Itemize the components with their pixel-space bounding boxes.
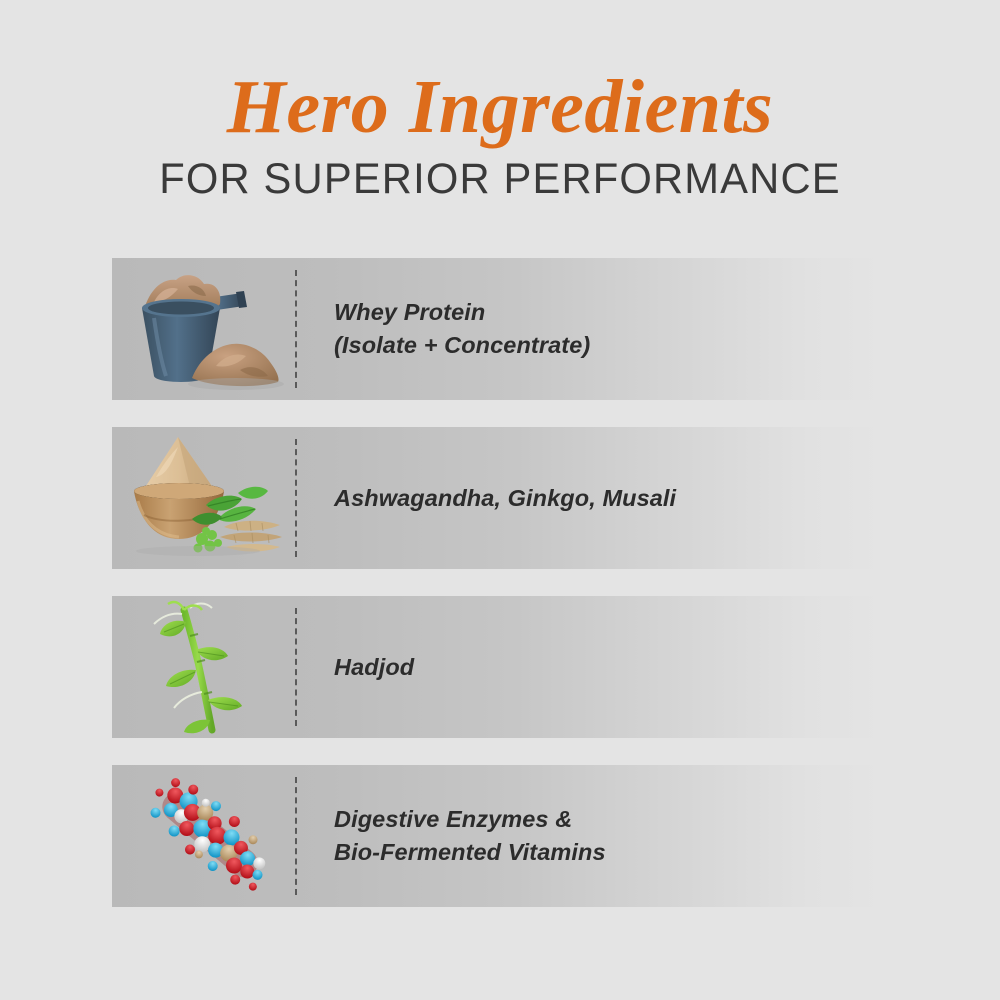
molecule-cluster-icon <box>120 765 300 907</box>
hero-ingredients-page: Hero Ingredients FOR SUPERIOR PERFORMANC… <box>0 0 1000 1000</box>
ingredient-row[interactable]: Hadjod <box>112 596 887 738</box>
row-divider <box>295 608 297 726</box>
ingredient-list: Whey Protein (Isolate + Concentrate) <box>112 258 887 907</box>
protein-scoop-icon <box>120 258 300 400</box>
ingredient-row[interactable]: Digestive Enzymes & Bio-Fermented Vitami… <box>112 765 887 907</box>
ingredient-label: Whey Protein (Isolate + Concentrate) <box>334 258 590 400</box>
ingredient-label: Ashwagandha, Ginkgo, Musali <box>334 427 676 569</box>
page-subtitle: FOR SUPERIOR PERFORMANCE <box>15 154 985 204</box>
ingredient-row[interactable]: Ashwagandha, Ginkgo, Musali <box>112 427 887 569</box>
row-divider <box>295 270 297 388</box>
page-header: Hero Ingredients FOR SUPERIOR PERFORMANC… <box>0 66 1000 204</box>
row-divider <box>295 777 297 895</box>
ingredient-label: Digestive Enzymes & Bio-Fermented Vitami… <box>334 765 606 907</box>
row-divider <box>295 439 297 557</box>
ingredient-label: Hadjod <box>334 596 414 738</box>
ingredient-row[interactable]: Whey Protein (Isolate + Concentrate) <box>112 258 887 400</box>
herb-bowl-icon <box>120 427 300 569</box>
page-title: Hero Ingredients <box>0 66 1000 148</box>
hadjod-vine-icon <box>120 596 300 738</box>
